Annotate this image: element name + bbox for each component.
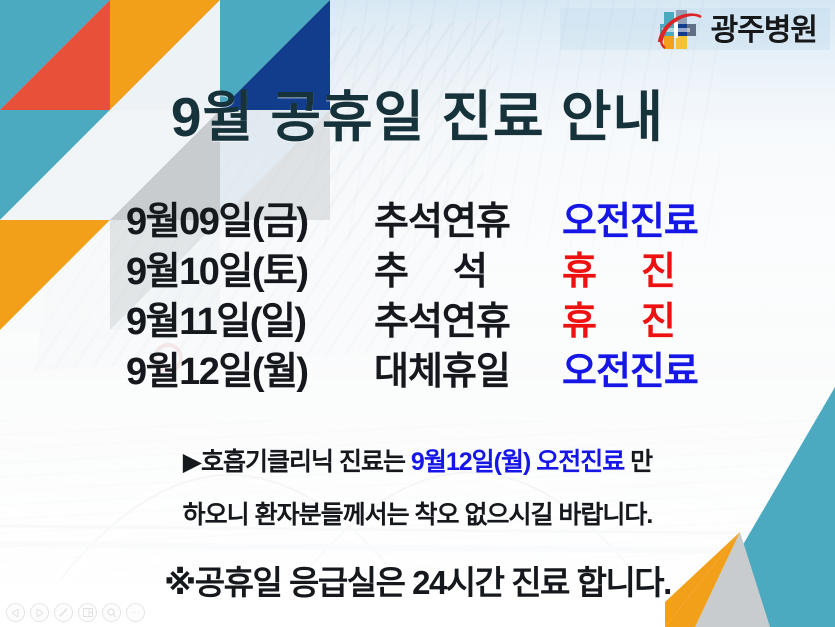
clinic-note-highlight: 9월12일(월) 오전진료	[411, 448, 624, 476]
schedule-kind: 대체휴일	[374, 340, 562, 395]
pen-icon[interactable]	[54, 603, 73, 622]
schedule-status: 휴진	[562, 240, 720, 295]
clinic-note-line-1: ▶호흡기클리닉 진료는 9월12일(월) 오전진료 만	[0, 442, 835, 478]
hospital-cross-swoosh-logo-icon	[656, 8, 704, 54]
table-row: 9월10일(토) 추석 휴진	[126, 240, 726, 290]
viewer-toolbar[interactable]: ···	[6, 603, 145, 622]
table-row: 9월12일(월) 대체휴일 오전진료	[126, 340, 726, 390]
schedule-status: 오전진료	[562, 340, 698, 395]
emergency-room-note: ※공휴일 응급실은 24시간 진료 합니다.	[0, 556, 835, 604]
schedule-date: 9월10일(토)	[126, 240, 374, 295]
holiday-notice-poster: 광주병원 9월 공휴일 진료 안내 9월09일(금) 추석연휴 오전진료 9월1…	[0, 0, 835, 627]
schedule-status: 오전진료	[562, 190, 698, 245]
schedule-date: 9월09일(금)	[126, 190, 374, 245]
table-row: 9월11일(일) 추석연휴 휴진	[126, 290, 726, 340]
hospital-name: 광주병원	[711, 16, 817, 46]
more-icon[interactable]: ···	[126, 603, 145, 622]
page-title: 9월 공휴일 진료 안내	[0, 72, 835, 152]
schedule-status: 휴진	[562, 290, 720, 345]
next-icon[interactable]	[30, 603, 49, 622]
schedule-kind: 추석연휴	[374, 290, 562, 345]
previous-icon[interactable]	[6, 603, 25, 622]
layout-icon[interactable]	[78, 603, 97, 622]
schedule-date: 9월11일(일)	[126, 290, 374, 345]
table-row: 9월09일(금) 추석연휴 오전진료	[126, 190, 726, 240]
schedule-kind: 추석	[374, 240, 562, 295]
zoom-icon[interactable]	[102, 603, 121, 622]
schedule-kind: 추석연휴	[374, 190, 562, 245]
schedule-table: 9월09일(금) 추석연휴 오전진료 9월10일(토) 추석 휴진 9월11일(…	[126, 190, 726, 390]
clinic-note-line-2: 하오니 환자분들께서는 착오 없으시길 바랍니다.	[0, 495, 835, 531]
clinic-note-suffix: 만	[624, 448, 652, 476]
schedule-date: 9월12일(월)	[126, 340, 374, 395]
hospital-logo: 광주병원	[656, 8, 817, 54]
more-icon-glyph: ···	[132, 609, 140, 617]
clinic-note-prefix: ▶호흡기클리닉 진료는	[183, 448, 411, 476]
